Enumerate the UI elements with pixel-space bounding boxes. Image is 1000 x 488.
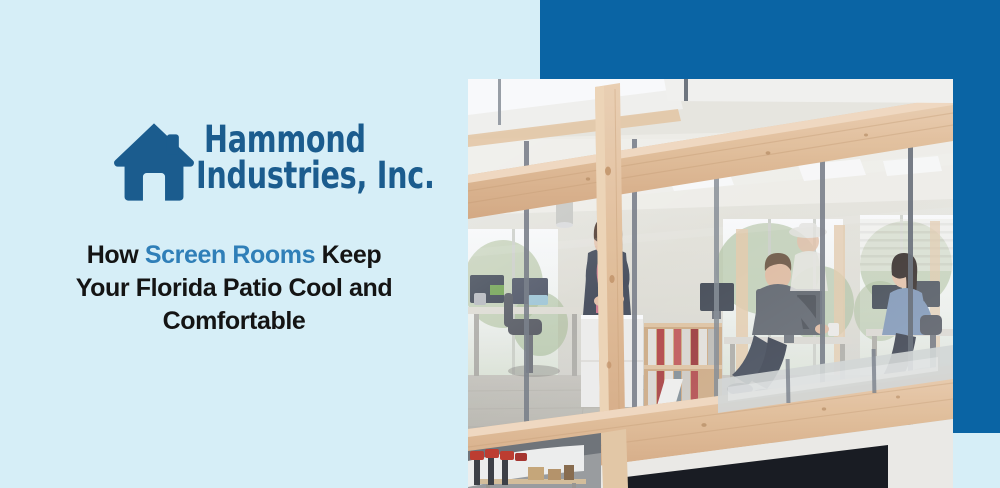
office-building-photo: [468, 79, 953, 488]
logo-wordmark: Hammond Industries, Inc.: [204, 114, 473, 193]
left-content-column: Hammond Industries, Inc. How Screen Room…: [0, 0, 468, 488]
headline-part-1: How: [87, 241, 145, 269]
house-icon: [108, 116, 200, 208]
logo-line-1: Hammond: [204, 122, 436, 158]
logo-line-2: Industries, Inc.: [196, 158, 435, 194]
headline-accent: Screen Rooms: [145, 241, 315, 269]
company-logo[interactable]: Hammond Industries, Inc.: [108, 114, 473, 208]
blog-header-banner: Hammond Industries, Inc. How Screen Room…: [0, 0, 1000, 488]
page-title: How Screen Rooms Keep Your Florida Patio…: [0, 239, 468, 339]
